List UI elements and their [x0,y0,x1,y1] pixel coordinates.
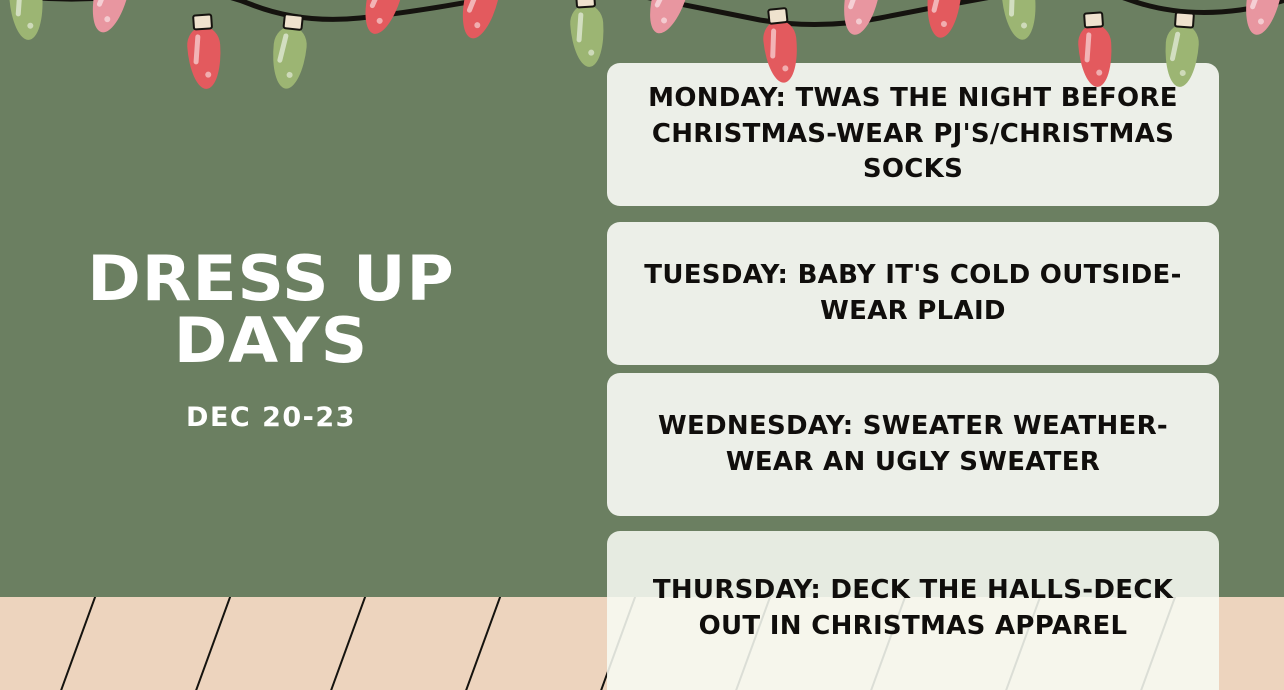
light-wire-icon [0,0,1284,50]
floor-plank-line [182,597,242,690]
day-card-monday: MONDAY: TWAS THE NIGHT BEFORE CHRISTMAS-… [607,63,1219,206]
floor-plank-line [452,597,512,690]
christmas-light-bulb-icon [353,0,407,55]
christmas-light-bulb-icon [834,0,883,56]
page-title: DRESS UP DAYS [0,248,553,372]
day-card-text: THURSDAY: DECK THE HALLS-DECK OUT IN CHR… [621,573,1205,645]
day-card-wednesday: WEDNESDAY: SWEATER WEATHER-WEAR AN UGLY … [607,373,1219,516]
floor-plank-line [317,597,377,690]
christmas-light-bulb-icon [636,0,692,55]
date-range-label: DEC 20-23 [0,402,542,433]
christmas-light-bulb-icon [8,0,47,59]
christmas-light-bulb-icon [451,0,502,60]
christmas-light-bulb-icon [568,0,607,73]
headline-block: DRESS UP DAYS DEC 20-23 [0,248,542,433]
day-card-tuesday: TUESDAY: BABY IT'S COLD OUTSIDE-WEAR PLA… [607,222,1219,365]
christmas-light-bulb-icon [81,0,132,54]
christmas-light-bulb-icon [269,12,310,95]
day-card-text: MONDAY: TWAS THE NIGHT BEFORE CHRISTMAS-… [621,81,1205,189]
dress-up-days-poster: DRESS UP DAYS DEC 20-23 MONDAY: TWAS THE… [0,0,1284,690]
day-card-text: WEDNESDAY: SWEATER WEATHER-WEAR AN UGLY … [621,409,1205,481]
christmas-light-bulb-icon [922,0,963,57]
christmas-light-bulb-icon [1000,0,1041,59]
floor-plank-line [47,597,107,690]
day-card-text: TUESDAY: BABY IT'S COLD OUTSIDE-WEAR PLA… [621,258,1205,330]
christmas-light-bulb-icon [1236,0,1284,56]
day-card-thursday: THURSDAY: DECK THE HALLS-DECK OUT IN CHR… [607,531,1219,690]
christmas-light-bulb-icon [185,13,224,95]
